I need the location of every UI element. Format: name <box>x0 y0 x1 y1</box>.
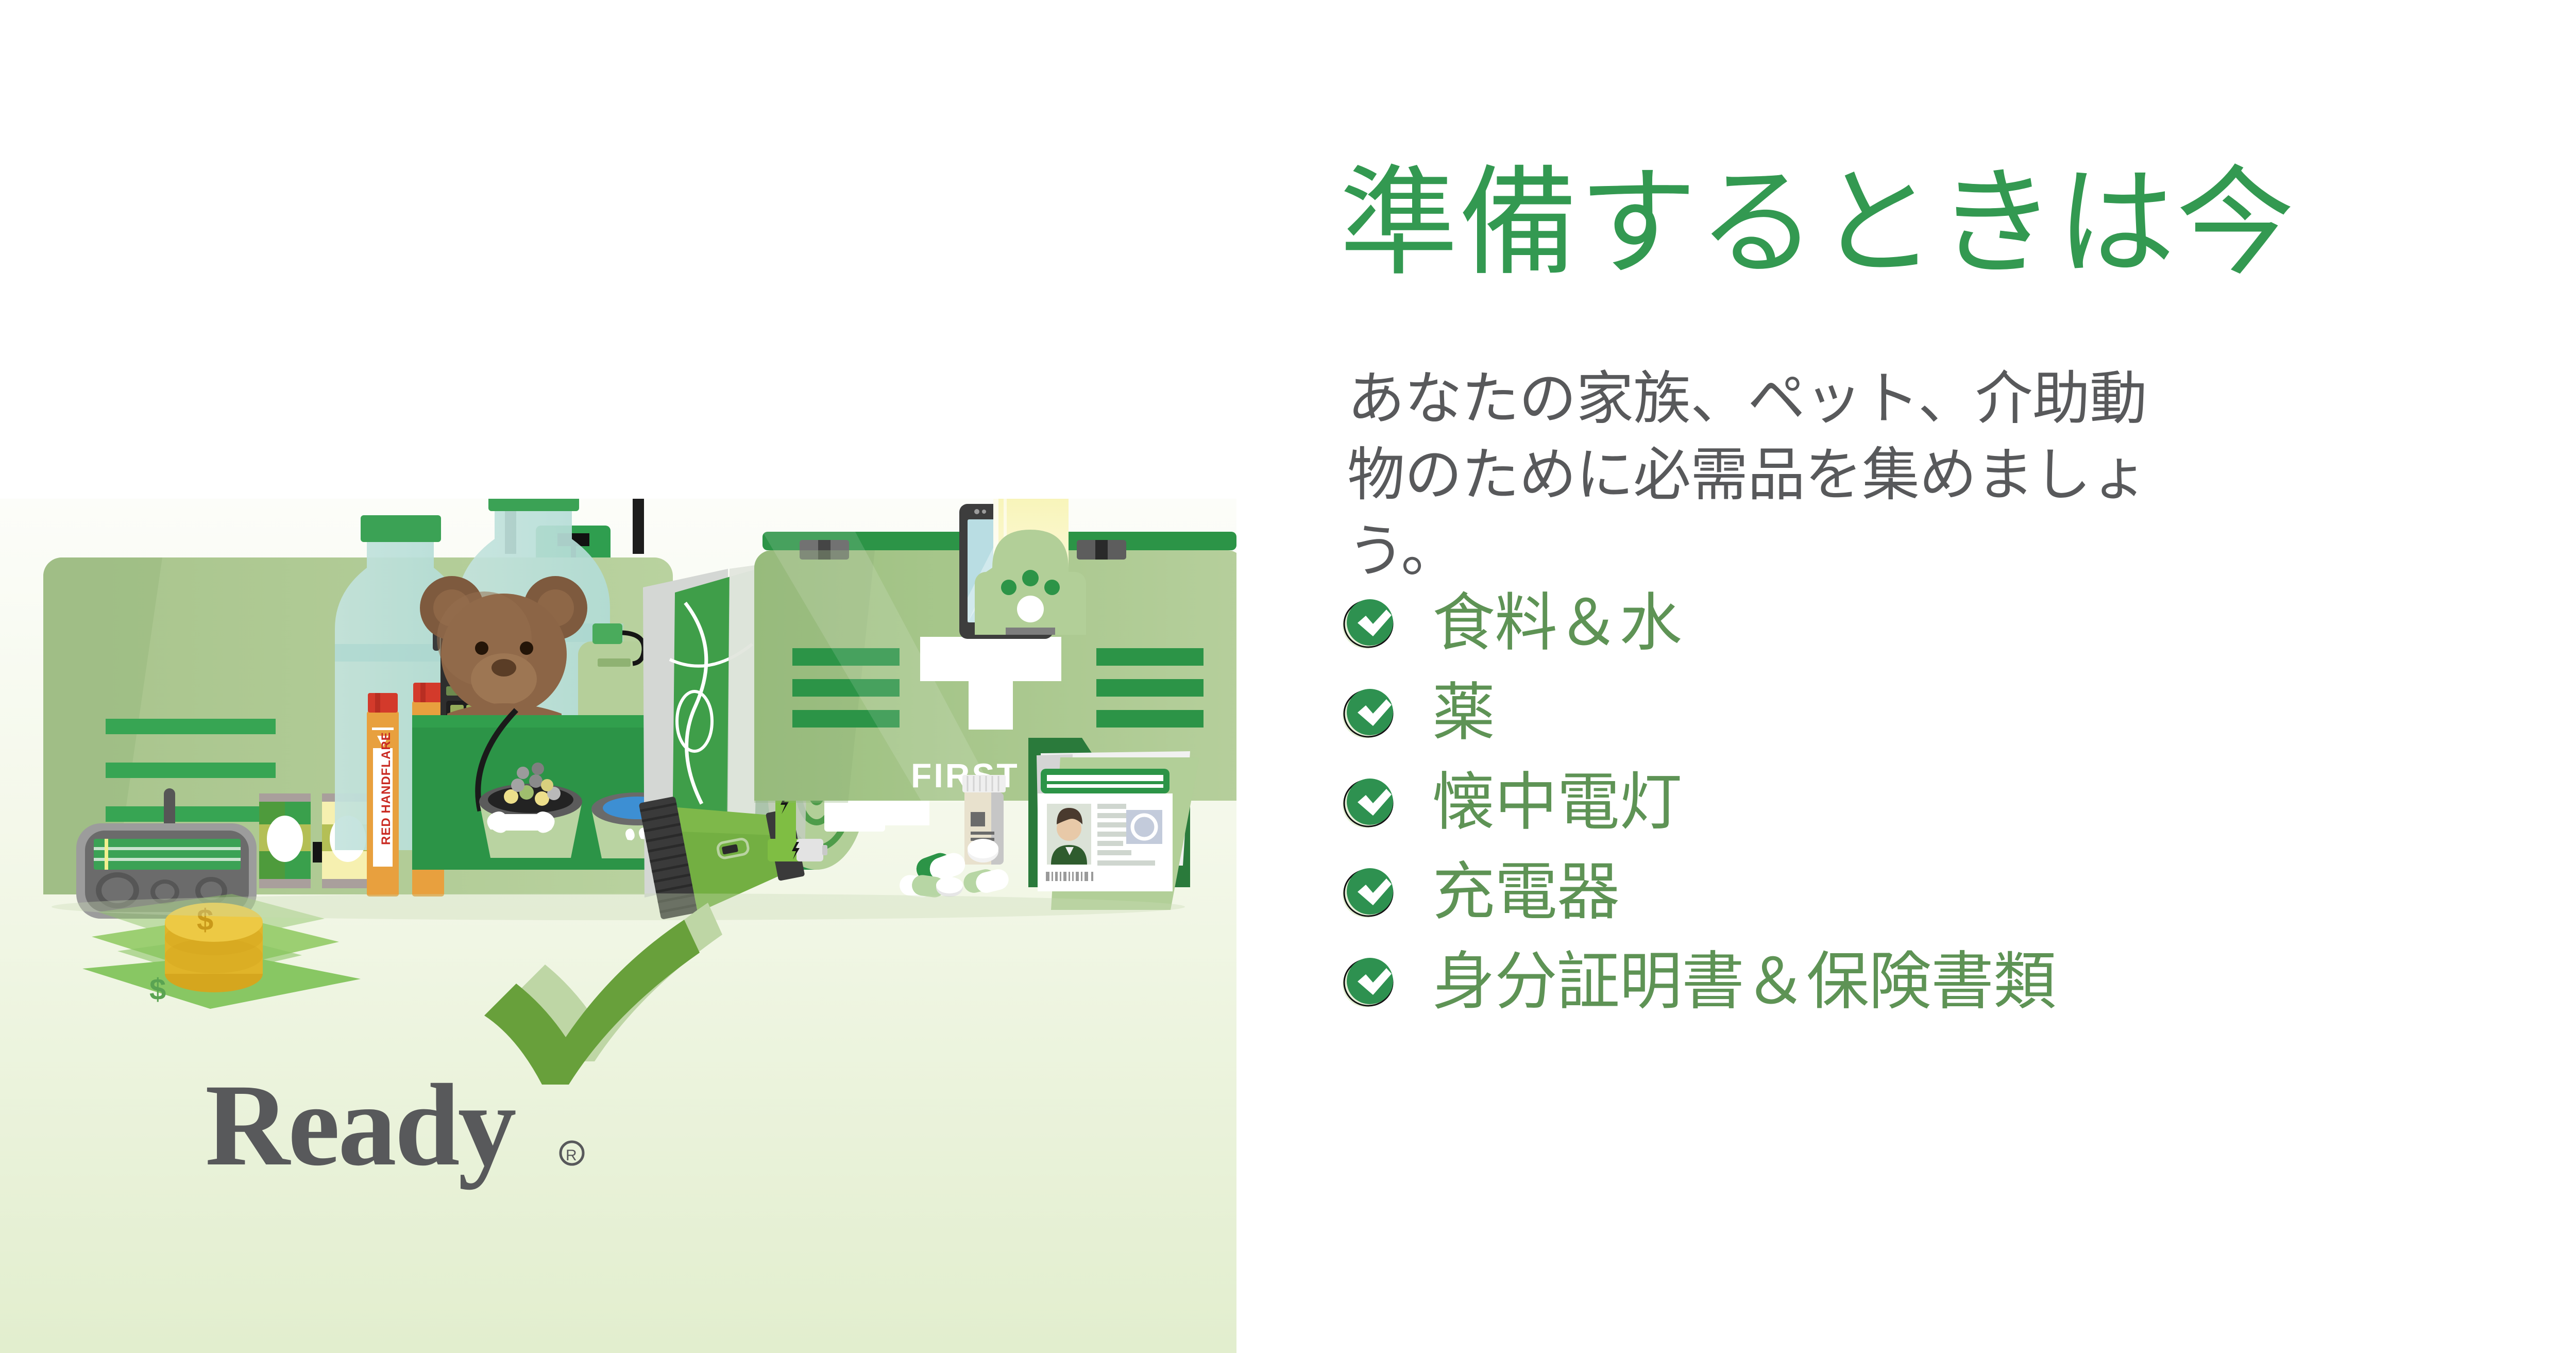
svg-text:Ready: Ready <box>205 1060 516 1190</box>
list-item[interactable]: 身分証明書＆保険書類 <box>1341 949 2474 1014</box>
list-item-label: 身分証明書＆保険書類 <box>1432 950 2056 1013</box>
check-circle-icon <box>1341 773 1398 831</box>
check-circle-icon <box>1341 684 1398 741</box>
list-item-label: 充電器 <box>1432 860 1619 923</box>
list-item[interactable]: 懐中電灯 <box>1341 769 2474 835</box>
list-item-label: 懐中電灯 <box>1432 771 1682 834</box>
illustration-panel: $ $ $ <box>0 499 1236 1353</box>
content-column: 準備するときは今 あなたの家族、ペット、介助動物のために必需品を集めましょう。 … <box>1309 0 2555 1353</box>
check-circle-icon <box>1341 863 1398 921</box>
page-subtitle: あなたの家族、ペット、介助動物のために必需品を集めましょう。 <box>1347 361 2182 589</box>
list-item-label: 食料＆水 <box>1432 591 1682 654</box>
list-item[interactable]: 充電器 <box>1341 859 2474 925</box>
list-item[interactable]: 薬 <box>1341 680 2474 746</box>
list-item[interactable]: 食料＆水 <box>1341 590 2474 656</box>
svg-text:RED HANDFLARE: RED HANDFLARE <box>379 732 393 845</box>
svg-text:R: R <box>566 1147 577 1164</box>
svg-text:$: $ <box>149 973 166 1006</box>
emergency-kit-illustration: $ $ $ <box>0 499 1236 1353</box>
page-title: 準備するときは今 <box>1340 164 2296 282</box>
preparedness-checklist: 食料＆水 薬 <box>1341 590 2474 1038</box>
list-item-label: 薬 <box>1432 681 1495 744</box>
loose-pills <box>899 839 1011 899</box>
check-circle-icon <box>1341 953 1398 1010</box>
identification-card <box>1038 769 1173 891</box>
check-circle-icon <box>1341 594 1398 652</box>
poster-root: $ $ $ <box>0 0 2576 1353</box>
